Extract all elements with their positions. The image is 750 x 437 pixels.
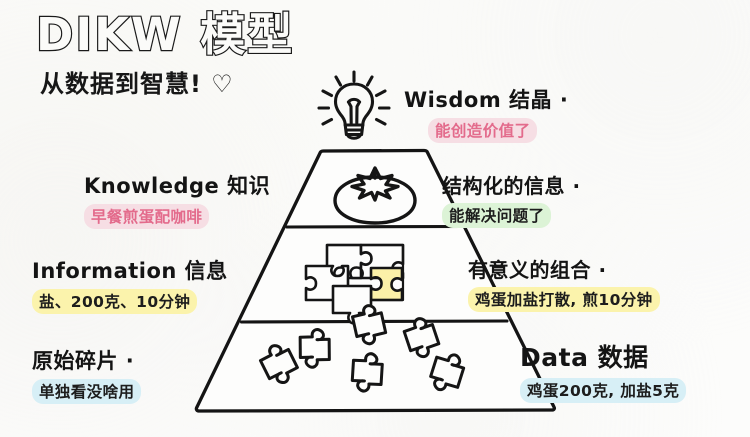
information-right-label: 有意义的组合 · [468,254,660,283]
data-left-label: 原始碎片 · [32,345,141,375]
knowledge-right-note: 能解决问题了 [442,203,551,228]
tier-label-wisdom: Wisdom 结晶 · 能创造价值了 [404,84,568,143]
tier-label-knowledge: Knowledge 知识 早餐煎蛋配咖啡 [84,170,270,229]
knowledge-label: Knowledge 知识 [84,170,270,200]
data-note: 鸡蛋200克, 加盐5克 [520,378,686,403]
data-label: Data 数据 [520,338,686,374]
knowledge-right-label: 结构化的信息 · [442,170,581,199]
dikw-poster: DIKW 模型 从数据到智慧! ♡ [0,0,750,437]
tier-label-information: Information 信息 盐、200克、10分钟 [32,255,228,314]
information-description: 有意义的组合 · 鸡蛋加盐打散, 煎10分钟 [468,254,660,312]
data-left-note: 单独看没啥用 [32,379,141,404]
wisdom-note: 能创造价值了 [428,118,537,143]
knowledge-note: 早餐煎蛋配咖啡 [84,204,209,229]
page-subtitle: 从数据到智慧! ♡ [40,72,234,96]
information-right-note: 鸡蛋加盐打散, 煎10分钟 [468,287,660,312]
information-label: Information 信息 [32,255,228,285]
information-note: 盐、200克、10分钟 [32,289,197,314]
knowledge-description: 结构化的信息 · 能解决问题了 [442,170,581,228]
lightbulb-icon [316,70,392,144]
page-title: DIKW 模型 [36,12,294,57]
tier-label-data: Data 数据 鸡蛋200克, 加盐5克 [520,338,686,403]
wisdom-label: Wisdom 结晶 · [404,84,568,114]
data-description: 原始碎片 · 单独看没啥用 [32,345,141,404]
